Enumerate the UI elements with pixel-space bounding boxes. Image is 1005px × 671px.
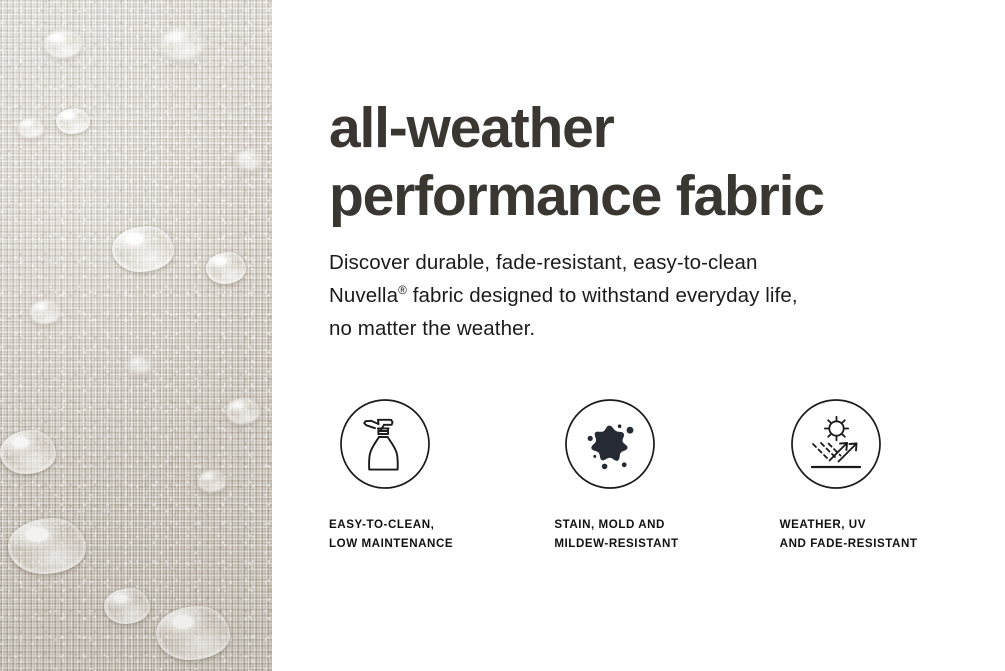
feature-item: EASY-TO-CLEAN, LOW MAINTENANCE [329, 398, 554, 553]
feature-list: EASY-TO-CLEAN, LOW MAINTENANCE STAIN, MO… [329, 398, 1005, 553]
fabric-depth-overlay [0, 0, 272, 671]
feature-label: WEATHER, UV AND FADE-RESISTANT [780, 516, 918, 553]
page-title: all-weather performance fabric [329, 94, 989, 230]
feature-item: WEATHER, UV AND FADE-RESISTANT [780, 398, 1005, 553]
subcopy-paragraph: Discover durable, fade-resistant, easy-t… [329, 246, 969, 345]
registered-trademark-mark: ® [398, 283, 407, 297]
stain-splatter-icon [564, 398, 656, 490]
feature-label: EASY-TO-CLEAN, LOW MAINTENANCE [329, 516, 453, 553]
fabric-photo-panel [0, 0, 272, 671]
content-column: all-weather performance fabric Discover … [329, 0, 1005, 671]
sun-uv-reflect-icon [790, 398, 882, 490]
spray-bottle-icon [339, 398, 431, 490]
feature-label: STAIN, MOLD AND MILDEW-RESISTANT [554, 516, 678, 553]
promo-page: all-weather performance fabric Discover … [0, 0, 1005, 671]
feature-item: STAIN, MOLD AND MILDEW-RESISTANT [554, 398, 779, 553]
